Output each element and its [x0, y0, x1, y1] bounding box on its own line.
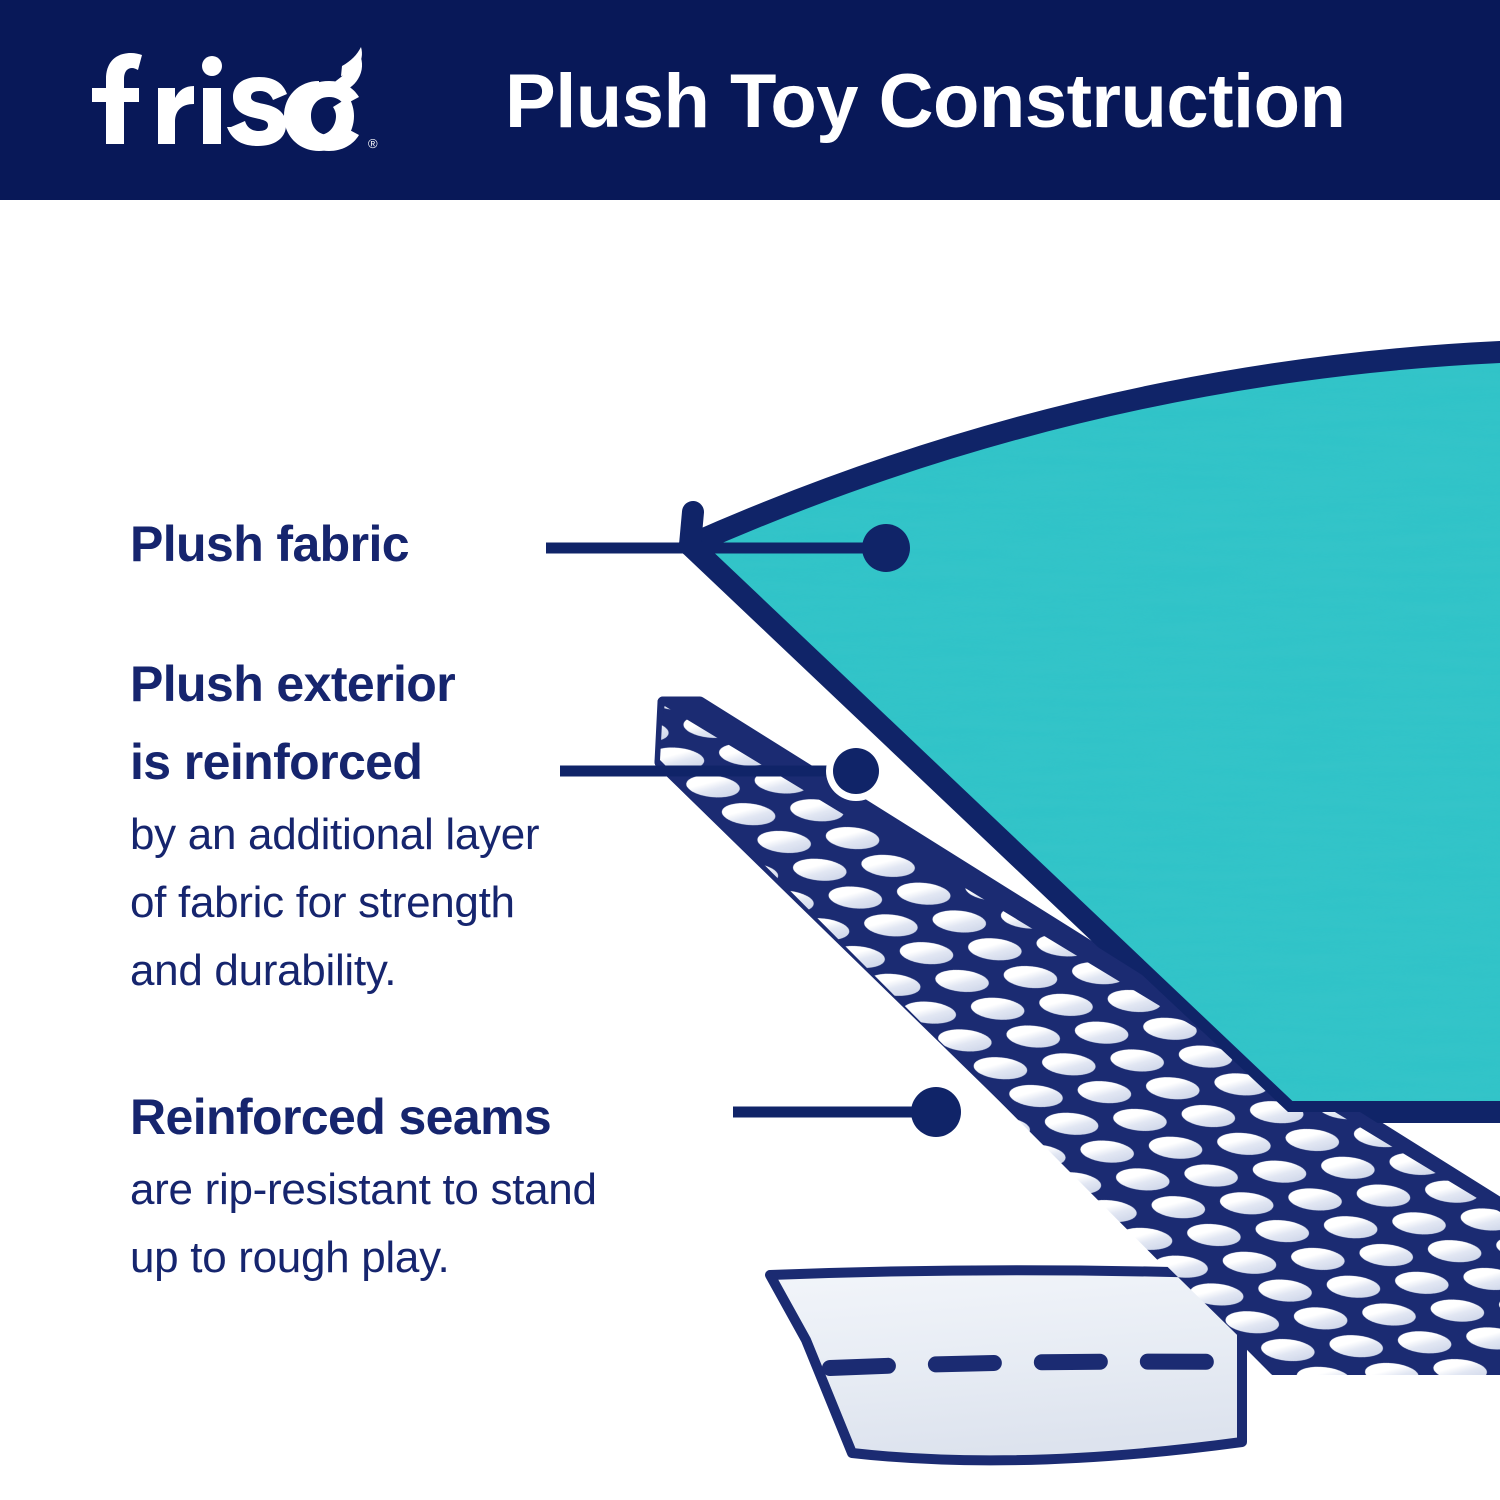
- callout-plush-fabric-heading: Plush fabric: [130, 505, 409, 583]
- callout-plush-exterior-body-line-3: and durability.: [130, 937, 539, 1005]
- infographic-page: ® Plush Toy Construction: [0, 0, 1500, 1500]
- callout-reinforced-seams-body-line-2: up to rough play.: [130, 1224, 597, 1292]
- plush-fabric-tip: [690, 512, 693, 545]
- callout-plush-exterior-heading-line-2: is reinforced: [130, 723, 539, 801]
- callout-plush-exterior-heading-line-1: Plush exterior: [130, 645, 539, 723]
- registered-trademark-symbol: ®: [368, 136, 378, 151]
- header-bar: ® Plush Toy Construction: [0, 0, 1500, 200]
- callout-reinforced-seams-body-line-1: are rip-resistant to stand: [130, 1156, 597, 1224]
- callout-plush-exterior-body-line-1: by an additional layer: [130, 801, 539, 869]
- callout-plush-exterior: Plush exterior is reinforced by an addit…: [130, 645, 539, 1005]
- callout-plush-fabric: Plush fabric: [130, 505, 409, 583]
- callout-reinforced-seams: Reinforced seams are rip-resistant to st…: [130, 1078, 597, 1292]
- callout-plush-exterior-body-line-2: of fabric for strength: [130, 869, 539, 937]
- leader-reinforced-seams: [733, 1087, 961, 1137]
- page-title: Plush Toy Construction: [505, 52, 1345, 152]
- callout-reinforced-seams-heading: Reinforced seams: [130, 1078, 597, 1156]
- frisco-logo: ®: [84, 44, 384, 154]
